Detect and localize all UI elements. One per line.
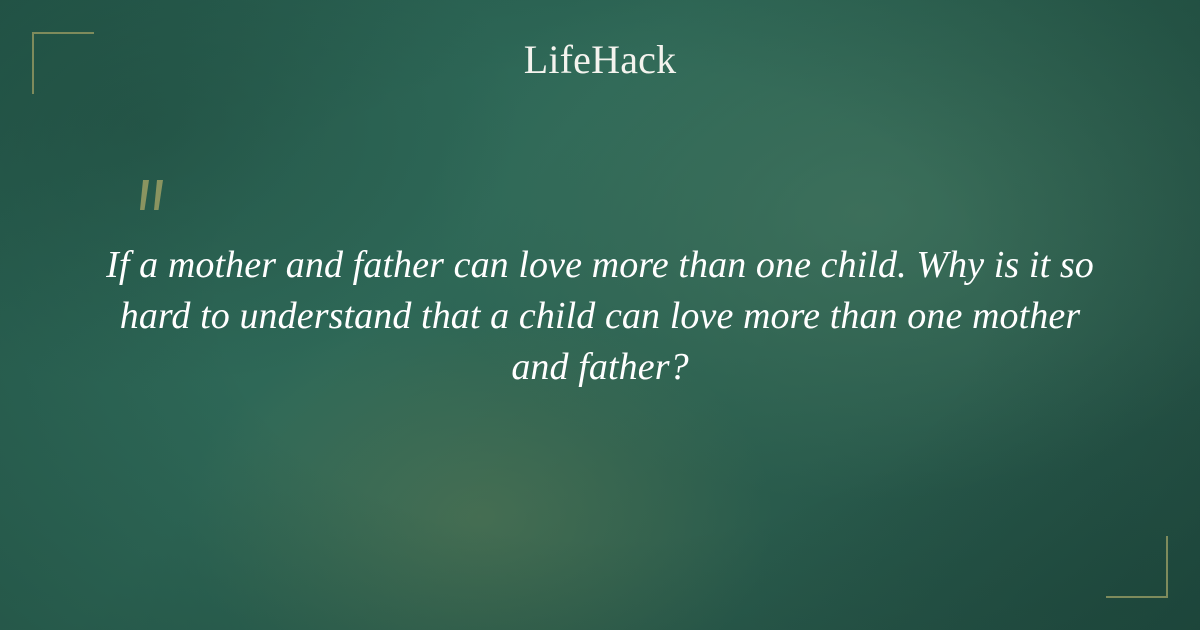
quote-block: If a mother and father can love more tha…	[100, 240, 1100, 393]
brand-logo: LifeHack	[0, 38, 1200, 82]
quote-text: If a mother and father can love more tha…	[100, 240, 1100, 393]
quote-card: LifeHack If a mother and father can love…	[0, 0, 1200, 630]
brand-name: LifeHack	[524, 38, 677, 82]
double-quote-icon	[133, 176, 177, 220]
